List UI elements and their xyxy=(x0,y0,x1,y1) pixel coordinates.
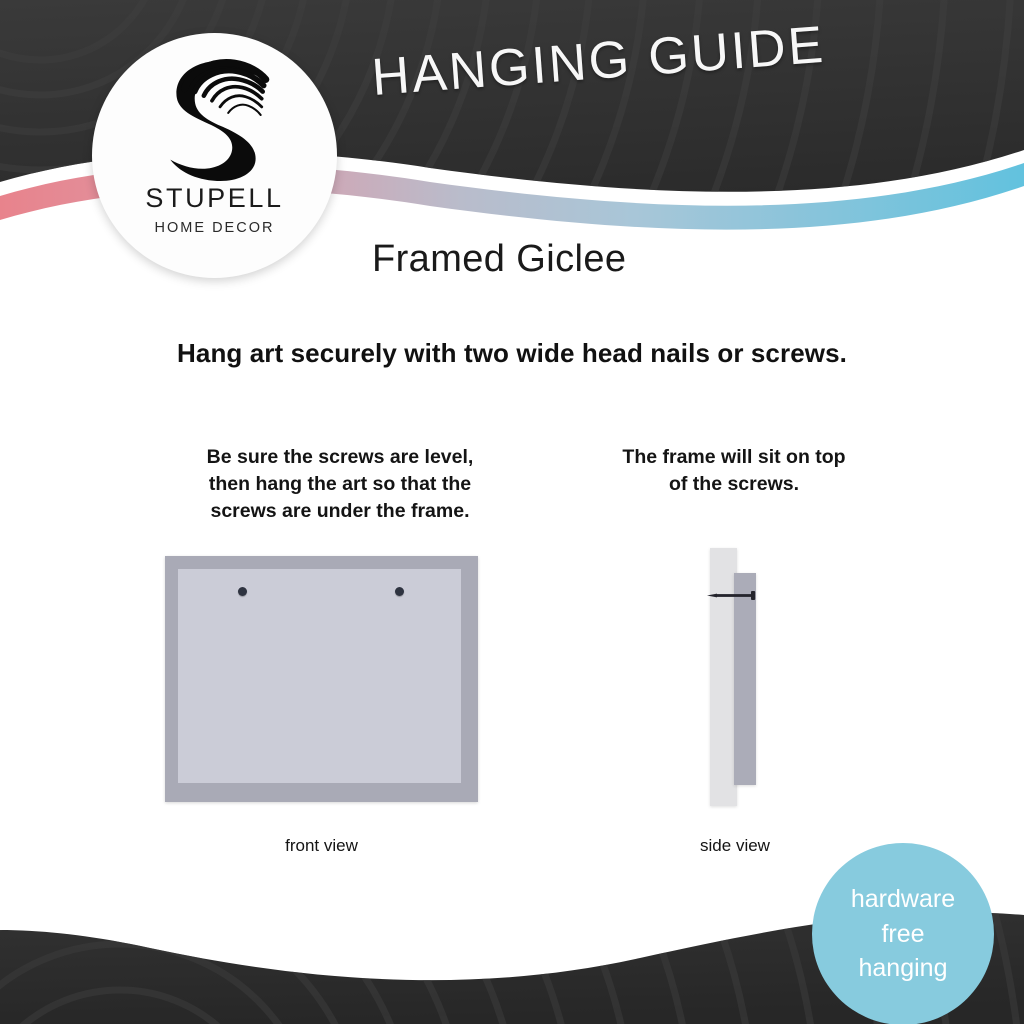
brand-logo-badge: STUPELL HOME DECOR xyxy=(92,33,337,278)
screw-marker-left xyxy=(238,587,247,596)
side-view-diagram xyxy=(700,548,810,810)
hardware-free-badge: hardware free hanging xyxy=(812,843,994,1024)
wall-cross-section xyxy=(710,548,737,806)
front-view-diagram xyxy=(165,556,478,802)
front-view-caption-block: Be sure the screws are level, then hang … xyxy=(112,444,568,525)
screw-marker-right xyxy=(395,587,404,596)
front-view-label: front view xyxy=(165,836,478,856)
front-caption-line-3: screws are under the frame. xyxy=(112,498,568,525)
side-caption-line-2: of the screws. xyxy=(584,471,884,498)
frame-border xyxy=(165,556,478,802)
badge-line-3: hanging xyxy=(859,951,948,986)
side-view-label: side view xyxy=(640,836,830,856)
side-caption-line-1: The frame will sit on top xyxy=(584,444,884,471)
side-view-caption-block: The frame will sit on top of the screws. xyxy=(584,444,884,498)
badge-line-2: free xyxy=(881,917,924,952)
main-instruction-text: Hang art securely with two wide head nai… xyxy=(0,338,1024,369)
stupell-swoosh-icon xyxy=(154,51,276,183)
badge-line-1: hardware xyxy=(851,882,955,917)
page-title: HANGING GUIDE xyxy=(370,15,828,108)
frame-cross-section xyxy=(734,573,756,785)
logo-wordmark: STUPELL xyxy=(145,185,283,212)
logo-tagline: HOME DECOR xyxy=(155,221,275,236)
product-subtitle: Framed Giclee xyxy=(372,238,626,281)
front-view-label-wrap: front view xyxy=(165,836,478,856)
front-caption-line-2: then hang the art so that the xyxy=(112,471,568,498)
side-view-label-wrap: side view xyxy=(640,836,830,856)
nail-icon xyxy=(707,591,759,600)
front-caption-line-1: Be sure the screws are level, xyxy=(112,444,568,471)
frame-art-panel xyxy=(178,569,461,783)
side-view-caption: The frame will sit on top of the screws. xyxy=(584,444,884,498)
front-view-caption: Be sure the screws are level, then hang … xyxy=(112,444,568,525)
hanging-guide-page: STUPELL HOME DECOR HANGING GUIDE Framed … xyxy=(0,0,1024,1024)
